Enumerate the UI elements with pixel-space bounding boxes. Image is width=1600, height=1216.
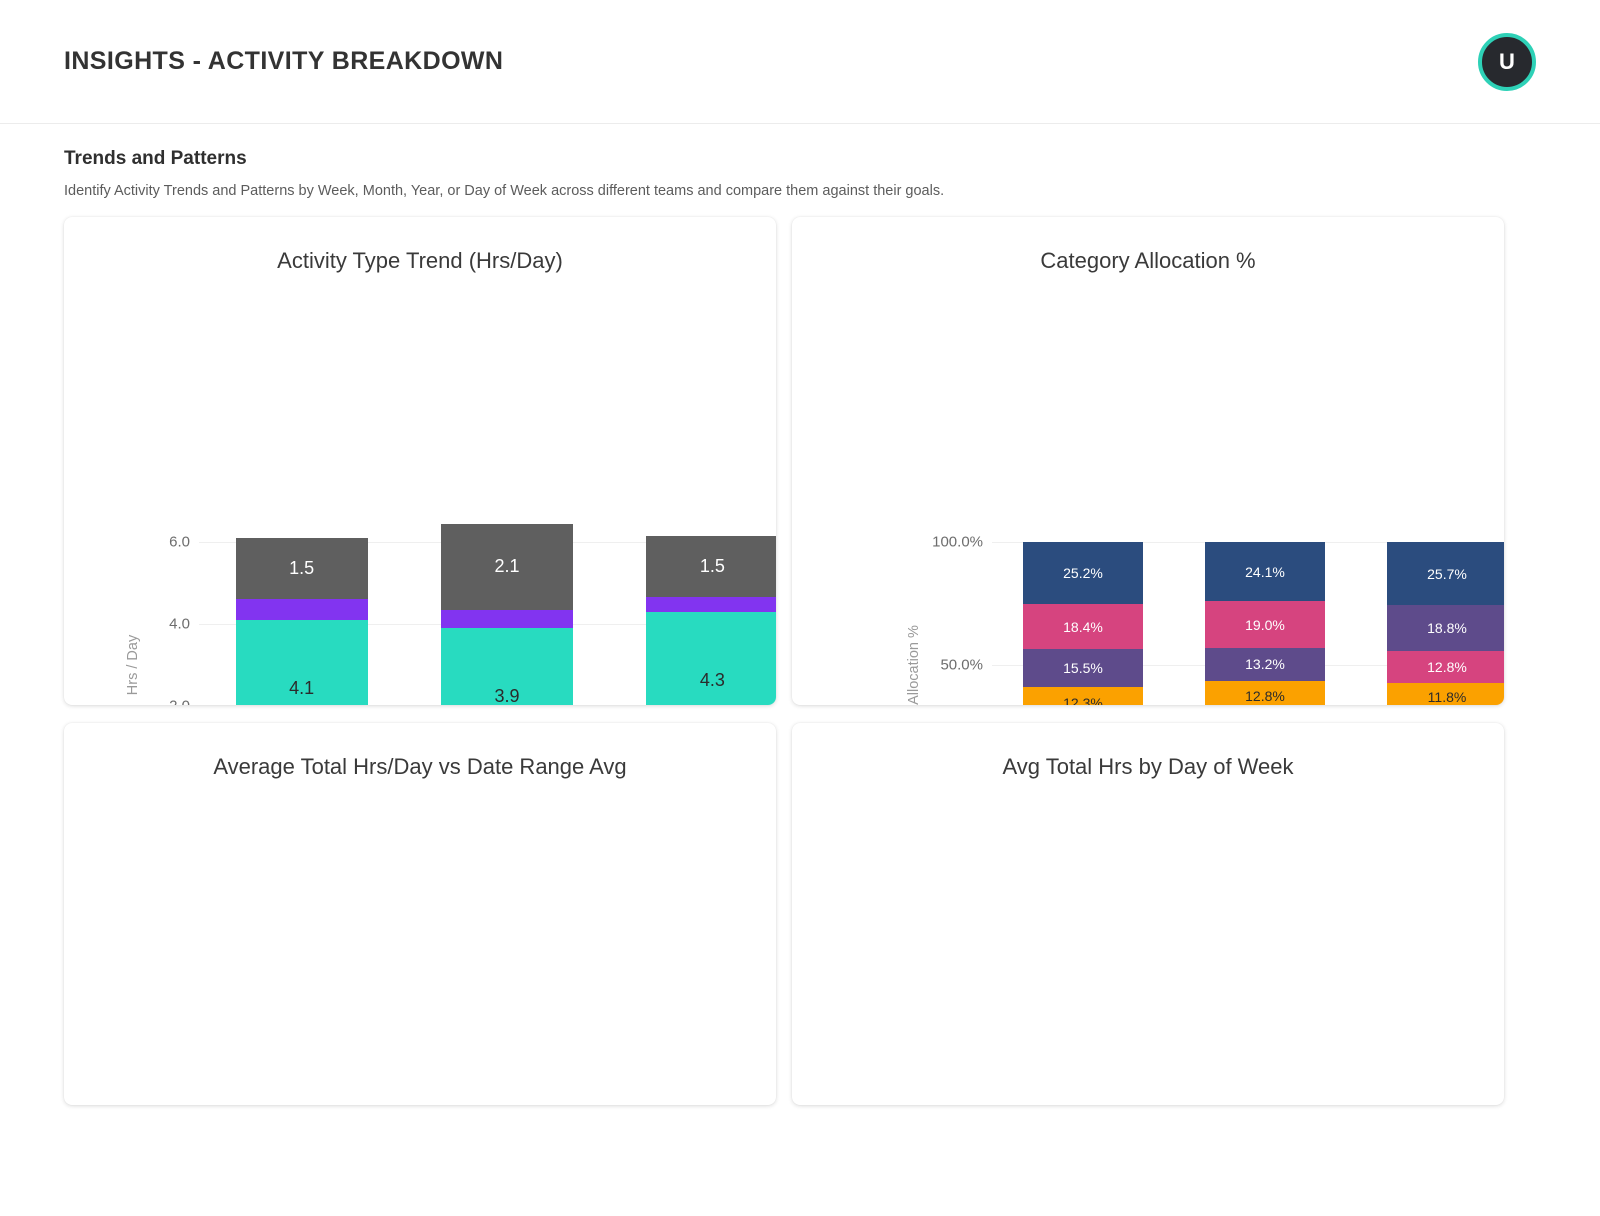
bar-segment-business-app[interactable]: 25.7% xyxy=(1387,542,1504,605)
bar-segment-undefined[interactable]: 2.1 xyxy=(441,524,573,610)
bar-segment-office[interactable]: 11.8% xyxy=(1387,683,1504,705)
bar-segment-marketing-programs[interactable]: 12.8% xyxy=(1387,651,1504,682)
card-avg-hrs-by-day: Avg Total Hrs by Day of Week Day of Week… xyxy=(792,723,1504,1105)
y-tick-label: 50.0% xyxy=(940,657,983,674)
bar-segment-productive[interactable]: 4.1 xyxy=(236,620,368,705)
stacked-bar[interactable]: 3.92.1 xyxy=(441,524,573,705)
chart-title-activity-type-trend: Activity Type Trend (Hrs/Day) xyxy=(64,217,776,274)
bar-segment-project-management[interactable]: 18.8% xyxy=(1387,605,1504,651)
bar-segment-label: 3.9 xyxy=(494,686,519,705)
bar-segment-label: 1.5 xyxy=(289,558,314,579)
y-tick-label: 4.0 xyxy=(169,616,190,633)
bar-segment-unproductive[interactable] xyxy=(441,610,573,628)
stacked-bar[interactable]: 7.2%7.9%10.2%12.8%13.2%19.0%24.1% xyxy=(1205,542,1325,705)
bar-segment-unproductive[interactable] xyxy=(646,597,776,611)
section-subtitle: Identify Activity Trends and Patterns by… xyxy=(64,183,1536,199)
stacked-bar[interactable]: 6.5%7.4%9.9%12.3%15.5%18.4%25.2% xyxy=(1023,542,1143,705)
bar-segment-productive[interactable]: 4.3 xyxy=(646,612,776,705)
chart-title-category-allocation: Category Allocation % xyxy=(792,217,1504,274)
bar-segment-productive[interactable]: 3.9 xyxy=(441,628,573,705)
section-title: Trends and Patterns xyxy=(64,148,1536,170)
plot-activity-type-trend: Hrs / Day0.02.04.06.001-11-2101-18-2101-… xyxy=(199,542,776,705)
stacked-bar[interactable]: 4.31.5 xyxy=(646,536,776,705)
app-header: INSIGHTS - ACTIVITY BREAKDOWN U xyxy=(0,0,1600,124)
y-tick-label: 6.0 xyxy=(169,534,190,551)
page-title: INSIGHTS - ACTIVITY BREAKDOWN xyxy=(64,47,503,76)
y-axis-label: Hrs / Day xyxy=(125,635,141,695)
bar-segment-business-app[interactable]: 24.1% xyxy=(1205,542,1325,601)
bar-segment-office[interactable]: 12.3% xyxy=(1023,687,1143,705)
bar-segment-marketing-programs[interactable]: 18.4% xyxy=(1023,604,1143,649)
bar-segment-label: 1.5 xyxy=(700,556,725,577)
card-avg-total-hrs: Average Total Hrs/Day vs Date Range Avg … xyxy=(64,723,776,1105)
stacked-bar[interactable]: 7.0%7.9%10.6%11.8%12.8%18.8%25.7% xyxy=(1387,542,1504,705)
card-category-allocation: Category Allocation % Allocation %0.0%50… xyxy=(792,217,1504,705)
bar-segment-unproductive[interactable] xyxy=(236,599,368,620)
bar-segment-business-app[interactable]: 25.2% xyxy=(1023,542,1143,604)
bar-segment-label: 4.3 xyxy=(700,670,725,691)
bar-segment-label: 2.1 xyxy=(494,556,519,577)
card-activity-type-trend: Activity Type Trend (Hrs/Day) Hrs / Day0… xyxy=(64,217,776,705)
bar-segment-office[interactable]: 12.8% xyxy=(1205,681,1325,705)
bar-segment-undefined[interactable]: 1.5 xyxy=(236,538,368,600)
bar-segment-marketing-programs[interactable]: 19.0% xyxy=(1205,601,1325,648)
bar-segment-project-management[interactable]: 13.2% xyxy=(1205,648,1325,680)
avatar[interactable]: U xyxy=(1478,33,1536,91)
dashboard-grid: Activity Type Trend (Hrs/Day) Hrs / Day0… xyxy=(0,199,1600,1105)
chart-title-avg-total-hrs: Average Total Hrs/Day vs Date Range Avg xyxy=(64,723,776,780)
y-tick-label: 100.0% xyxy=(932,534,983,551)
bar-segment-undefined[interactable]: 1.5 xyxy=(646,536,776,598)
y-tick-label: 2.0 xyxy=(169,698,190,706)
chart-title-avg-hrs-by-day: Avg Total Hrs by Day of Week xyxy=(792,723,1504,780)
plot-category-allocation: Allocation %0.0%50.0%100.0%01-11-2101-18… xyxy=(992,542,1504,705)
bar-segment-label: 4.1 xyxy=(289,678,314,699)
bar-segment-project-management[interactable]: 15.5% xyxy=(1023,649,1143,687)
y-axis-label: Allocation % xyxy=(906,625,922,705)
avatar-initial: U xyxy=(1478,33,1536,91)
stacked-bar[interactable]: 4.11.5 xyxy=(236,538,368,705)
section-header: Trends and Patterns Identify Activity Tr… xyxy=(0,124,1600,199)
